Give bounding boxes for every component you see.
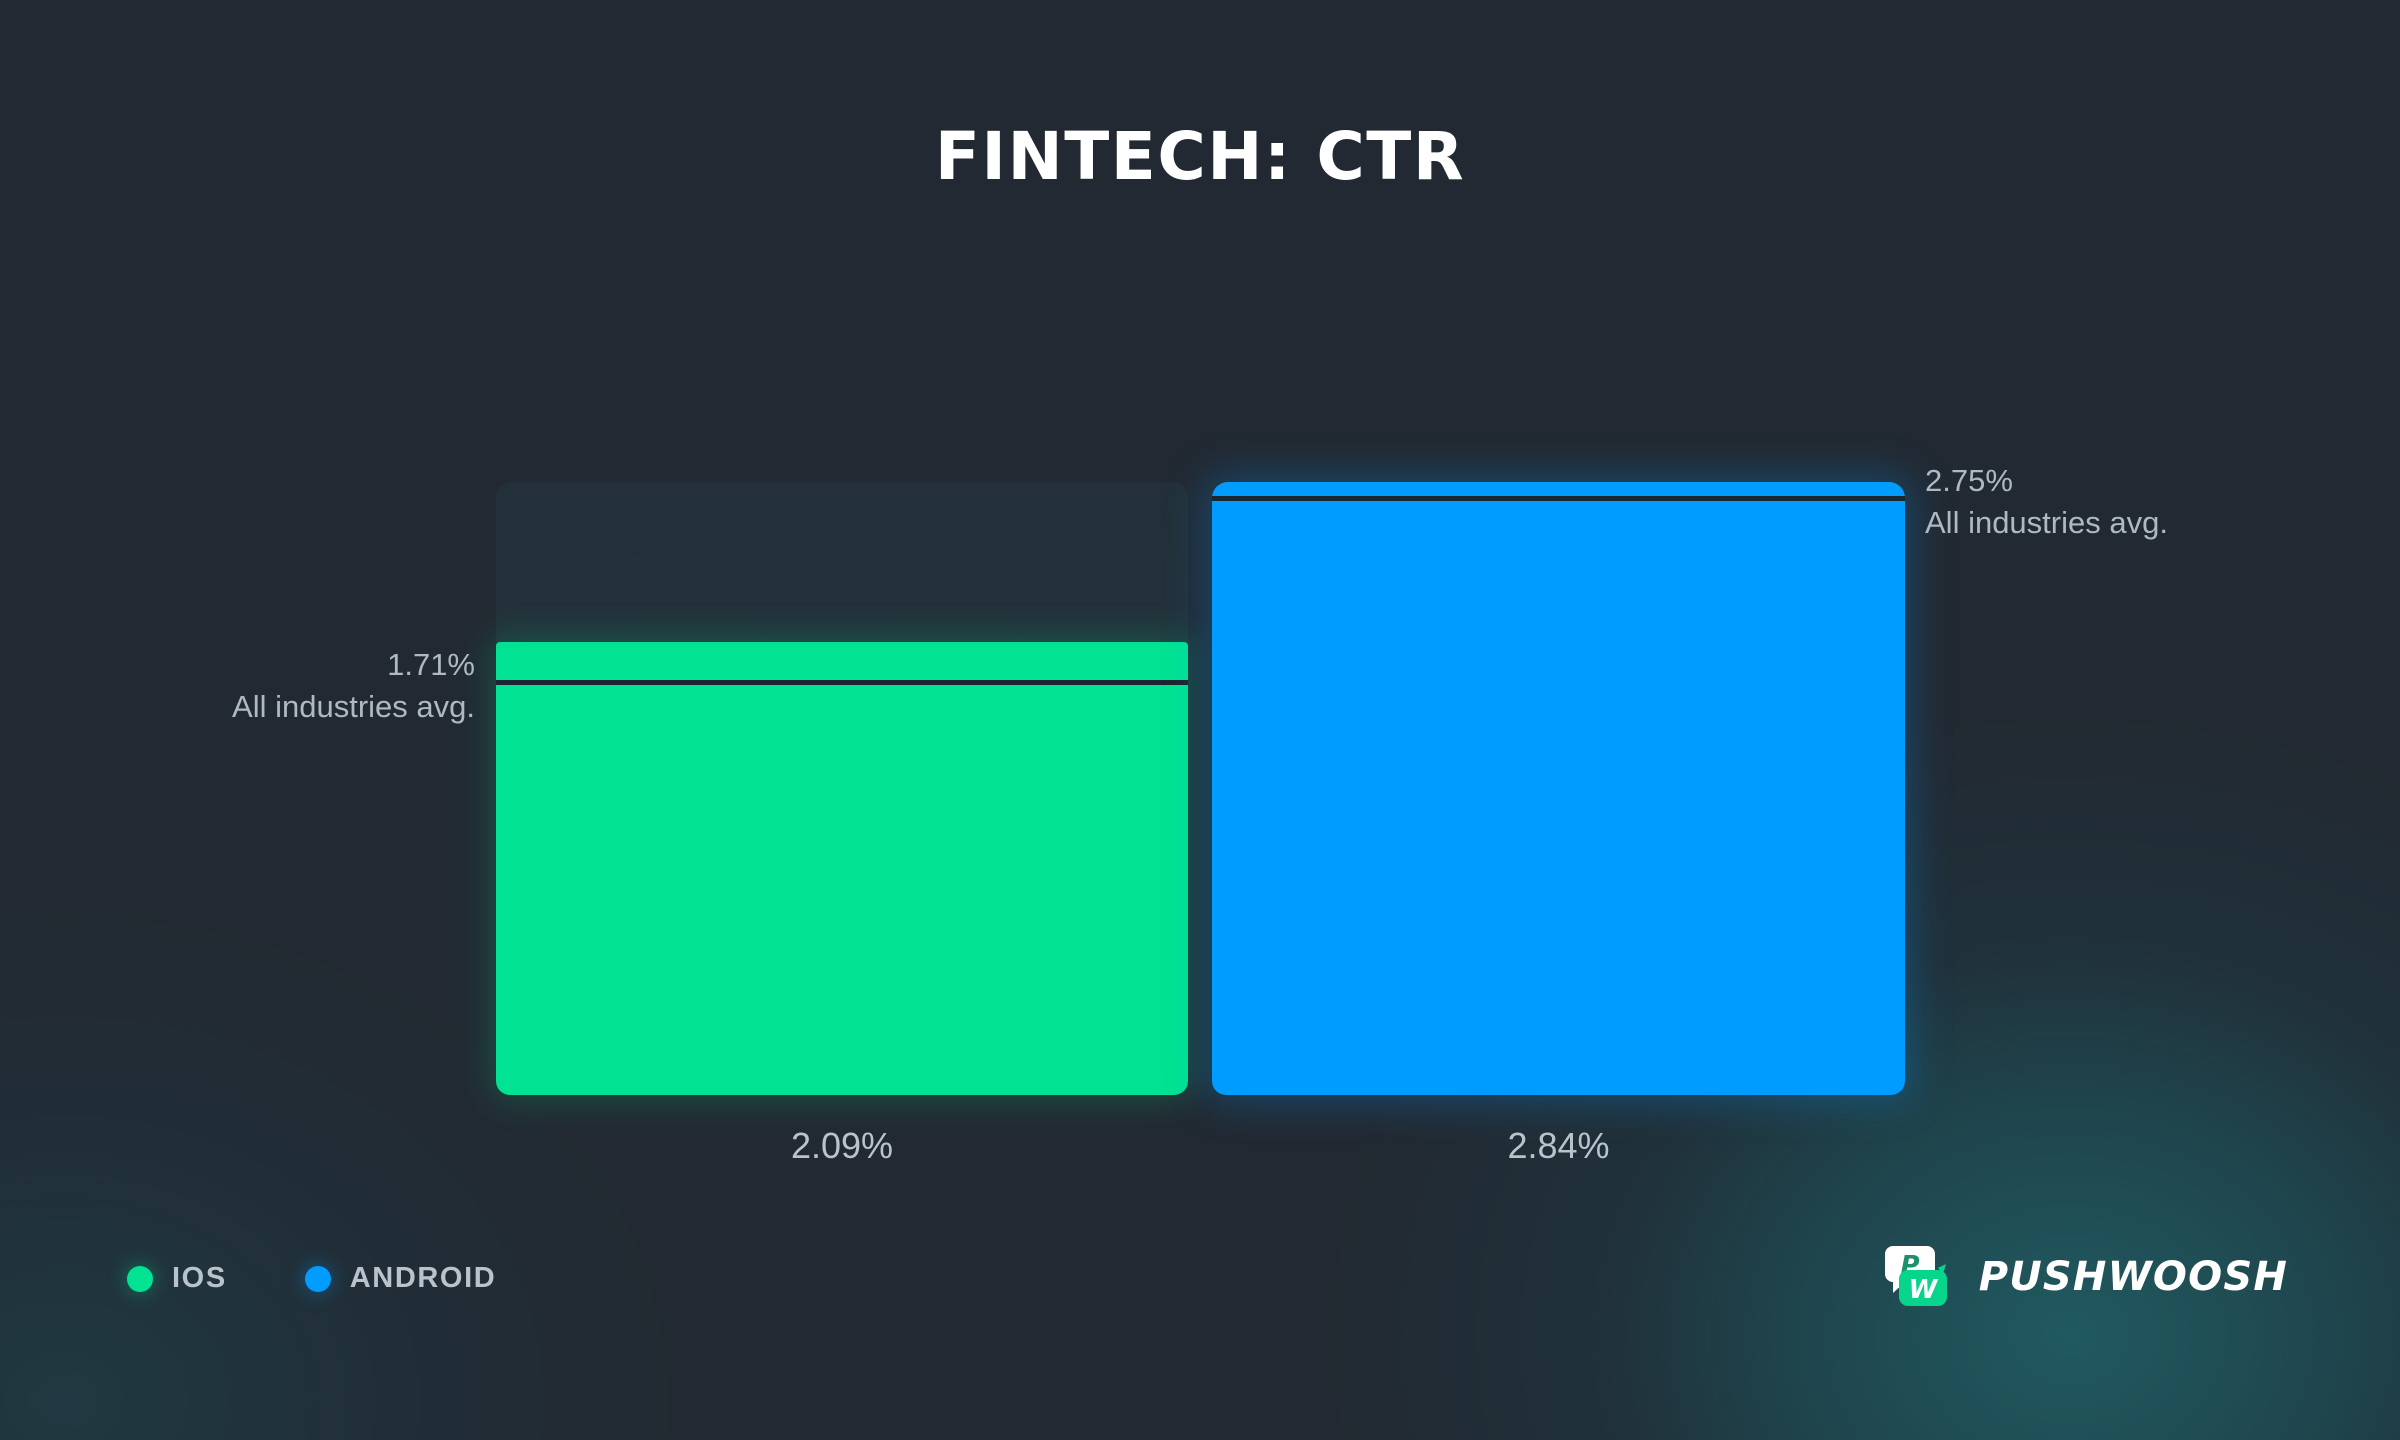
chart-legend: IOS ANDROID xyxy=(127,1262,496,1295)
brand-logo: P W PUSHWOOSH xyxy=(1883,1240,2288,1314)
average-value-android: 2.75% xyxy=(1925,460,2168,502)
bar-group-ios[interactable] xyxy=(496,482,1188,1095)
legend-dot-icon-android xyxy=(305,1266,331,1292)
bar-value-label-android: 2.84% xyxy=(1212,1125,1905,1167)
legend-item-android[interactable]: ANDROID xyxy=(305,1262,497,1295)
average-annotation-android: 2.75% All industries avg. xyxy=(1925,460,2168,544)
average-annotation-ios: 1.71% All industries avg. xyxy=(232,644,475,728)
legend-dot-icon-ios xyxy=(127,1266,153,1292)
legend-label-ios: IOS xyxy=(172,1262,227,1295)
legend-label-android: ANDROID xyxy=(350,1262,497,1295)
average-marker-line-android xyxy=(1212,496,1905,501)
bar-group-android[interactable] xyxy=(1212,482,1905,1095)
pushwoosh-mark-icon: P W xyxy=(1883,1240,1957,1314)
average-value-ios: 1.71% xyxy=(232,644,475,686)
bar-fill-ios[interactable] xyxy=(496,642,1188,1095)
bar-fill-android[interactable] xyxy=(1212,482,1905,1095)
legend-item-ios[interactable]: IOS xyxy=(127,1262,227,1295)
bar-chart: 1.71% All industries avg. 2.75% All indu… xyxy=(0,0,2400,1440)
brand-wordmark: PUSHWOOSH xyxy=(1979,1254,2288,1300)
average-caption-android: All industries avg. xyxy=(1925,502,2168,544)
bar-value-label-ios: 2.09% xyxy=(496,1125,1188,1167)
average-marker-line-ios xyxy=(496,680,1188,685)
average-caption-ios: All industries avg. xyxy=(232,686,475,728)
svg-text:W: W xyxy=(1908,1275,1938,1305)
